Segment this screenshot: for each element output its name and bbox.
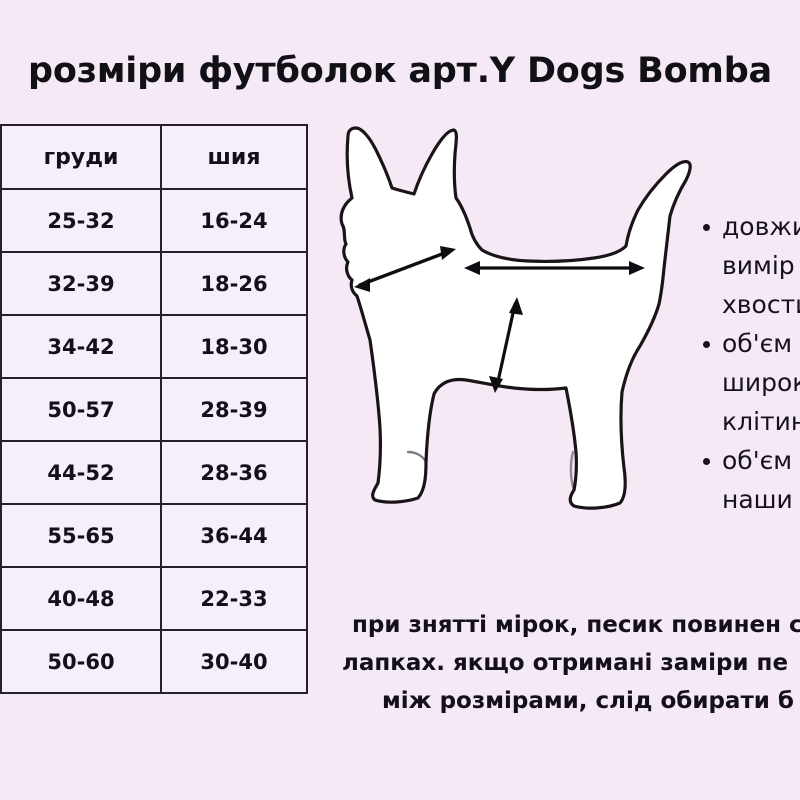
table-row: 50-60 30-40 (0, 630, 307, 693)
list-item-continuation: наши (700, 481, 800, 518)
table-row: 34-42 18-30 (0, 315, 307, 378)
measurement-instructions: при знятті мірок, песик повинен с лапках… (352, 606, 800, 720)
cell-chest: 55-65 (1, 504, 161, 567)
table-row: 44-52 28-36 (0, 441, 307, 504)
column-header-chest: груди (1, 125, 161, 189)
table-row: 25-32 16-24 (0, 189, 307, 252)
size-table-container: довжина груди шия 25-32 16-24 32-39 18-2… (0, 124, 308, 694)
cell-neck: 16-24 (161, 189, 307, 252)
table-row: 32-39 18-26 (0, 252, 307, 315)
cell-neck: 36-44 (161, 504, 307, 567)
table-row: 40-48 22-33 (0, 567, 307, 630)
note-line: об'єм (722, 446, 792, 475)
cell-neck: 28-39 (161, 378, 307, 441)
note-line: клітин (722, 407, 800, 436)
table-header-row: довжина груди шия (0, 125, 307, 189)
size-table-head: довжина груди шия (0, 125, 307, 189)
dog-outline-icon (341, 128, 690, 508)
measurement-notes: довжи вимір хвости об'єм широк клітин об… (700, 208, 800, 520)
table-row: 50-57 28-39 (0, 378, 307, 441)
instruction-line: між розмірами, слід обирати б (382, 682, 800, 720)
note-line: хвости (722, 290, 800, 319)
cell-chest: 25-32 (1, 189, 161, 252)
size-chart-page: розміри футболок арт.Y Dogs Bomba довжин… (0, 0, 800, 800)
bullet-dot-icon (703, 341, 710, 348)
cell-neck: 22-33 (161, 567, 307, 630)
cell-chest: 44-52 (1, 441, 161, 504)
cell-neck: 18-26 (161, 252, 307, 315)
cell-neck: 30-40 (161, 630, 307, 693)
bullet-dot-icon (703, 458, 710, 465)
dog-rear-leg-line (571, 452, 574, 490)
cell-chest: 32-39 (1, 252, 161, 315)
page-title: розміри футболок арт.Y Dogs Bomba (28, 46, 772, 96)
cell-chest: 50-60 (1, 630, 161, 693)
note-line: об'єм (722, 329, 792, 358)
column-header-neck: шия (161, 125, 307, 189)
list-item-continuation: широк (700, 364, 800, 401)
dog-diagram (330, 118, 702, 524)
bullet-dot-icon (703, 224, 710, 231)
list-item: об'єм (700, 325, 800, 362)
cell-neck: 28-36 (161, 441, 307, 504)
list-item: об'єм (700, 442, 800, 479)
instruction-line: при знятті мірок, песик повинен с (352, 606, 800, 644)
instruction-line: лапках. якщо отримані заміри пе (342, 644, 800, 682)
list-item-continuation: вимір (700, 247, 800, 284)
size-table-body: 25-32 16-24 32-39 18-26 34-42 18-30 50-5… (0, 189, 307, 693)
note-line: наши (722, 485, 793, 514)
list-item: довжи (700, 208, 800, 245)
cell-chest: 40-48 (1, 567, 161, 630)
cell-chest: 34-42 (1, 315, 161, 378)
table-row: 55-65 36-44 (0, 504, 307, 567)
measurement-notes-list: довжи вимір хвости об'єм широк клітин об… (700, 208, 800, 518)
note-line: довжи (722, 212, 800, 241)
list-item-continuation: клітин (700, 403, 800, 440)
list-item-continuation: хвости (700, 286, 800, 323)
size-table: довжина груди шия 25-32 16-24 32-39 18-2… (0, 124, 308, 694)
note-line: вимір (722, 251, 795, 280)
note-line: широк (722, 368, 800, 397)
cell-chest: 50-57 (1, 378, 161, 441)
cell-neck: 18-30 (161, 315, 307, 378)
